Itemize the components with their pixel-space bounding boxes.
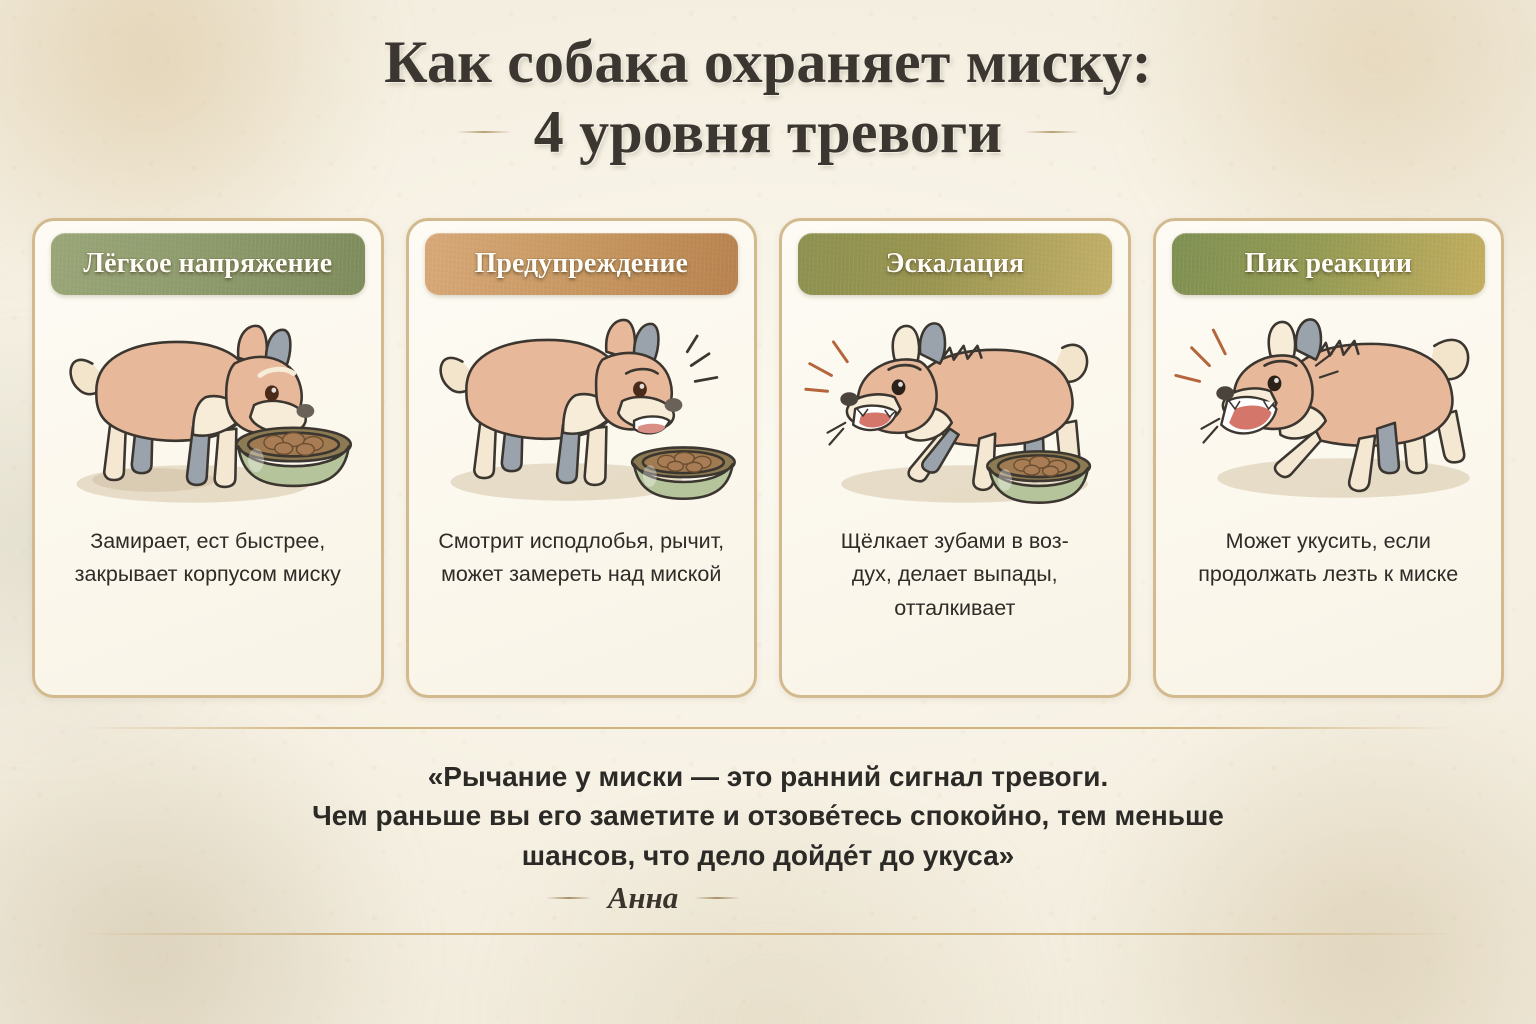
- quote-line-2: Чем раньше вы его заметите и отзове́тесь…: [120, 796, 1416, 836]
- page-title-line-2: 4 уровня тревоги: [534, 98, 1003, 168]
- page-header: Как собака охраняет миску: 4 уровня трев…: [0, 28, 1536, 167]
- stage-card-2[interactable]: Предупреждение: [406, 218, 758, 698]
- stage-badge-4: Пик реакции: [1172, 233, 1486, 295]
- quote-attribution: Анна: [120, 880, 1416, 916]
- stage-badge-label-2: Предупреждение: [475, 248, 688, 280]
- stage-badge-label-4: Пик реакции: [1244, 248, 1412, 280]
- stage-card-1[interactable]: Лёгкое напряжение: [32, 218, 384, 698]
- stage-badge-3: Эскалация: [798, 233, 1112, 295]
- stage-description-4: Может укусить, если продолжать лезть к м…: [1166, 525, 1492, 608]
- quote-divider-bottom: [78, 933, 1458, 935]
- quote-divider-top: [78, 727, 1458, 729]
- stage-description-3-line-1: Щёлкает зубами в воз-: [841, 525, 1069, 558]
- stage-badge-label-1: Лёгкое напряжение: [83, 248, 332, 280]
- stage-description-3-line-2: дух, делает выпады,: [841, 558, 1069, 591]
- quote-section: «Рычание у миски — это ранний сигнал тре…: [0, 700, 1536, 926]
- stage-badge-label-3: Эскалация: [886, 248, 1025, 280]
- stage-illustration-2: [419, 305, 745, 511]
- stage-illustration-1: [45, 305, 371, 511]
- quote-line-3: шансов, что дело дойде́т до укуса»: [120, 836, 1416, 876]
- quote-block: «Рычание у миски — это ранний сигнал тре…: [0, 729, 1536, 926]
- stage-description-1: Замирает, ест быстрее, закрывает корпусо…: [45, 525, 371, 608]
- stage-badge-2: Предупреждение: [425, 233, 739, 295]
- page-subtitle-row: 4 уровня тревоги: [0, 98, 1536, 168]
- stage-card-4[interactable]: Пик реакции: [1153, 218, 1505, 698]
- title-dash-right: [1024, 131, 1080, 133]
- quote-line-1: «Рычание у миски — это ранний сигнал тре…: [120, 757, 1416, 797]
- stage-illustration-3: [792, 305, 1118, 511]
- stage-description-2: Смотрит исподлобья, рычит, может замерет…: [419, 525, 745, 608]
- attribution-dash-right: [694, 897, 740, 899]
- stage-illustration-4: [1166, 305, 1492, 511]
- stage-badge-1: Лёгкое напряжение: [51, 233, 365, 295]
- page-title-line-1: Как собака охраняет миску:: [0, 28, 1536, 98]
- quote-author: Анна: [608, 880, 679, 916]
- stage-description-3: Щёлкает зубами в воз- дух, делает выпады…: [831, 525, 1079, 641]
- stages-row: Лёгкое напряжение: [0, 218, 1536, 698]
- title-dash-left: [456, 131, 512, 133]
- attribution-dash-left: [546, 897, 592, 899]
- stage-card-3[interactable]: Эскалация: [779, 218, 1131, 698]
- stage-description-3-line-3: отталкивает: [841, 592, 1069, 625]
